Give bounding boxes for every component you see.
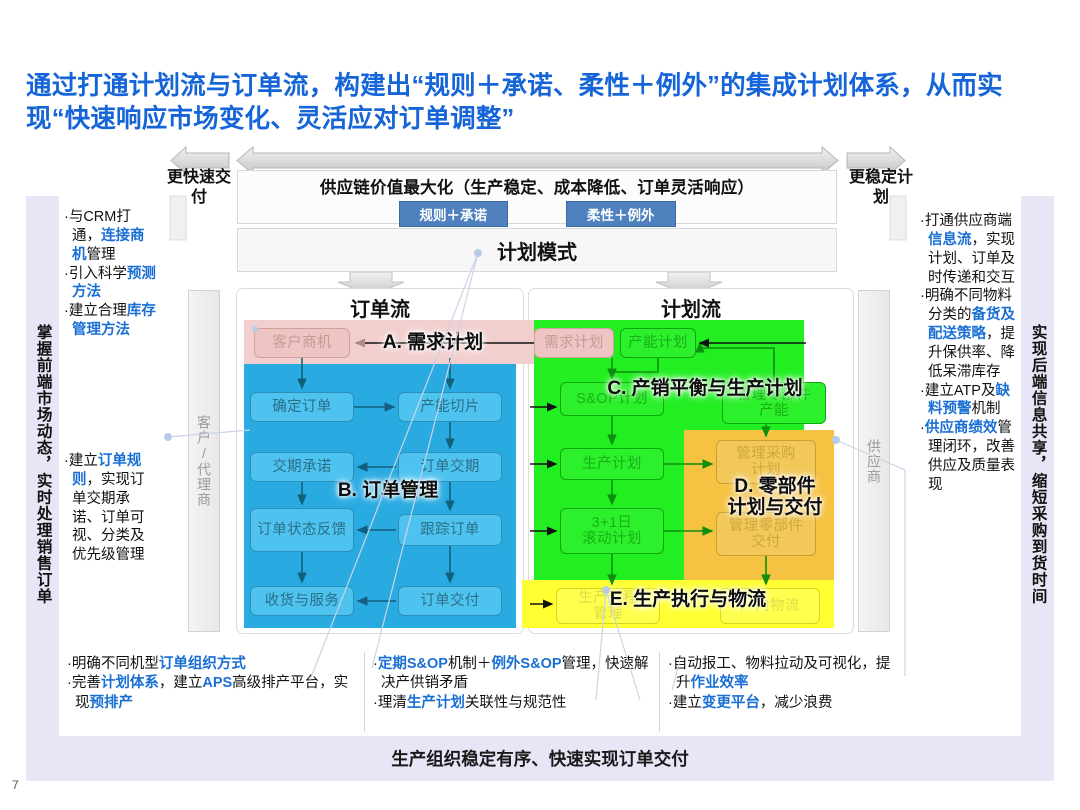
- section-d-caption: D. 零部件 计划与交付: [700, 476, 850, 519]
- node-order-status-feedback[interactable]: 订单状态反馈: [250, 508, 354, 552]
- order-flow-title: 订单流: [237, 293, 523, 322]
- plan-mode-label: 计划模式: [497, 236, 577, 265]
- left-side-label: 掌握前端市场动态，实时处理销售订单: [26, 214, 59, 714]
- list-item: ·建立合理库存管理方法: [64, 302, 158, 340]
- actor-supplier: 供应商: [858, 290, 890, 632]
- node-confirm-order[interactable]: 确定订单: [250, 392, 354, 422]
- node-customer-opportunity[interactable]: 客户商机: [254, 328, 350, 358]
- highlight-text: 例外S&OP: [491, 656, 561, 672]
- left-bullets-bottom: ·建立订单规则，实现订单交期承诺、订单可视、分类及优先级管理: [62, 452, 158, 565]
- highlight-text: 作业效率: [691, 675, 749, 691]
- section-a-caption: A. 需求计划: [358, 332, 508, 353]
- highlight-text: 定期S&OP: [378, 656, 448, 672]
- node-capacity-slice[interactable]: 产能切片: [398, 392, 502, 422]
- list-item: ·供应商绩效管理闭环，改善供应及质量表现: [920, 419, 1018, 494]
- highlight-text: 连接商机: [72, 228, 145, 263]
- section-b-caption: B. 订单管理: [298, 480, 478, 501]
- right-bullets: ·打通供应商端信息流，实现计划、订单及时传递和交互 ·明确不同物料分类的备货及配…: [918, 212, 1018, 495]
- list-item: ·自动报工、物料拉动及可视化，提升作业效率: [668, 655, 903, 694]
- highlight-text: 生产计划: [407, 695, 465, 711]
- node-delivery-commitment[interactable]: 交期承诺: [250, 452, 354, 482]
- node-demand-plan[interactable]: 需求计划: [534, 328, 614, 358]
- bottom-bullets-col2: ·定期S&OP机制＋例外S&OP管理，快速解决产供销矛盾 ·理清生产计划关联性与…: [364, 652, 659, 732]
- node-track-order[interactable]: 跟踪订单: [398, 514, 502, 546]
- faster-delivery-label: 更快速交付: [163, 168, 235, 207]
- highlight-text: 备货及配送策略: [928, 307, 1015, 342]
- node-receipt-service[interactable]: 收货与服务: [250, 586, 354, 616]
- actor-customer-agent: 客户/代理商: [188, 290, 220, 632]
- list-item: ·建立订单规则，实现订单交期承诺、订单可视、分类及优先级管理: [64, 452, 158, 565]
- list-item: ·明确不同机型订单组织方式: [67, 655, 358, 674]
- bottom-bullets-col1: ·明确不同机型订单组织方式 ·完善计划体系，建立APS高级排产平台，实现预排产: [59, 652, 364, 732]
- plan-flow-title: 计划流: [529, 293, 853, 322]
- node-manage-part-delivery[interactable]: 管理零部件 交付: [716, 512, 816, 556]
- node-rolling-plan[interactable]: 3+1日 滚动计划: [560, 508, 664, 554]
- stable-plan-label: 更稳定计划: [845, 168, 917, 207]
- page-title: 通过打通计划流与订单流，构建出“规则＋承诺、柔性＋例外”的集成计划体系，从而实现…: [26, 70, 1061, 136]
- highlight-text: 供应商绩效: [925, 420, 998, 436]
- plan-mode-bar: 计划模式: [237, 228, 837, 272]
- list-item: ·引入科学预测方法: [64, 265, 158, 303]
- bottom-bullets-col3: ·自动报工、物料拉动及可视化，提升作业效率 ·建立变更平台，减少浪费: [659, 652, 909, 732]
- list-item: ·打通供应商端信息流，实现计划、订单及时传递和交互: [920, 212, 1018, 287]
- node-rolling-plan-l1: 3+1日: [592, 515, 633, 531]
- footer-banner: 生产组织稳定有序、快速实现订单交付: [26, 736, 1054, 781]
- list-item: ·建立ATP及缺料预警机制: [920, 382, 1018, 420]
- node-rolling-plan-l2: 滚动计划: [582, 531, 642, 547]
- node-order-delivery[interactable]: 订单交付: [398, 586, 502, 616]
- highlight-text: 订单规则: [72, 453, 141, 488]
- list-item: ·定期S&OP机制＋例外S&OP管理，快速解决产供销矛盾: [373, 655, 653, 694]
- chip-rules-commitment[interactable]: 规则＋承诺: [399, 201, 509, 227]
- section-d-line1: D. 零部件: [700, 476, 850, 497]
- section-e-caption: E. 生产执行与物流: [556, 589, 820, 610]
- list-item: ·与CRM打通，连接商机管理: [64, 208, 158, 265]
- highlight-text: 预排产: [90, 695, 134, 711]
- supply-chain-title: 供应链价值最大化（生产稳定、成本降低、订单灵活响应）: [320, 174, 754, 198]
- section-d-line2: 计划与交付: [700, 497, 850, 518]
- list-item: ·理清生产计划关联性与规范性: [373, 694, 653, 713]
- supply-chain-value-box: 供应链价值最大化（生产稳定、成本降低、订单灵活响应） 规则＋承诺 柔性＋例外: [237, 170, 837, 224]
- section-c-caption: C. 产销平衡与生产计划: [560, 378, 850, 399]
- highlight-text: 变更平台: [702, 695, 760, 711]
- node-production-plan[interactable]: 生产计划: [560, 448, 664, 480]
- right-side-label: 实现后端信息共享，缩短采购到货时间: [1021, 214, 1054, 714]
- footer-banner-label: 生产组织稳定有序、快速实现订单交付: [26, 736, 1054, 781]
- node-manage-part-delivery-l1: 管理零部件: [729, 518, 804, 534]
- left-bullets-top: ·与CRM打通，连接商机管理 ·引入科学预测方法 ·建立合理库存管理方法: [62, 208, 158, 340]
- page-number: 7: [12, 778, 19, 792]
- node-order-status-feedback-l1: 订单状态反馈: [257, 522, 346, 538]
- slide-root: 通过打通计划流与订单流，构建出“规则＋承诺、柔性＋例外”的集成计划体系，从而实现…: [0, 0, 1080, 810]
- chip-flex-exception[interactable]: 柔性＋例外: [566, 201, 676, 227]
- highlight-text: 计划体系: [101, 675, 159, 691]
- list-item: ·明确不同物料分类的备货及配送策略，提升保供率、降低呆滞库存: [920, 287, 1018, 381]
- node-manage-part-capacity-l2: 产能: [759, 403, 789, 419]
- node-capacity-plan[interactable]: 产能计划: [620, 328, 696, 358]
- node-manage-purchase-plan-l1: 管理采购: [736, 446, 796, 462]
- highlight-text: 订单组织方式: [159, 656, 246, 672]
- principle-chips: 规则＋承诺 柔性＋例外: [399, 201, 676, 227]
- highlight-text: 信息流: [928, 232, 972, 248]
- highlight-text: 预测方法: [72, 266, 156, 301]
- list-item: ·建立变更平台，减少浪费: [668, 694, 903, 713]
- node-order-leadtime[interactable]: 订单交期: [398, 452, 502, 482]
- list-item: ·完善计划体系，建立APS高级排产平台，实现预排产: [67, 674, 358, 713]
- node-manage-part-delivery-l2: 交付: [751, 534, 781, 550]
- highlight-text: 库存管理方法: [72, 303, 156, 338]
- highlight-text: 缺料预警: [928, 383, 1010, 418]
- highlight-text: APS: [202, 675, 232, 691]
